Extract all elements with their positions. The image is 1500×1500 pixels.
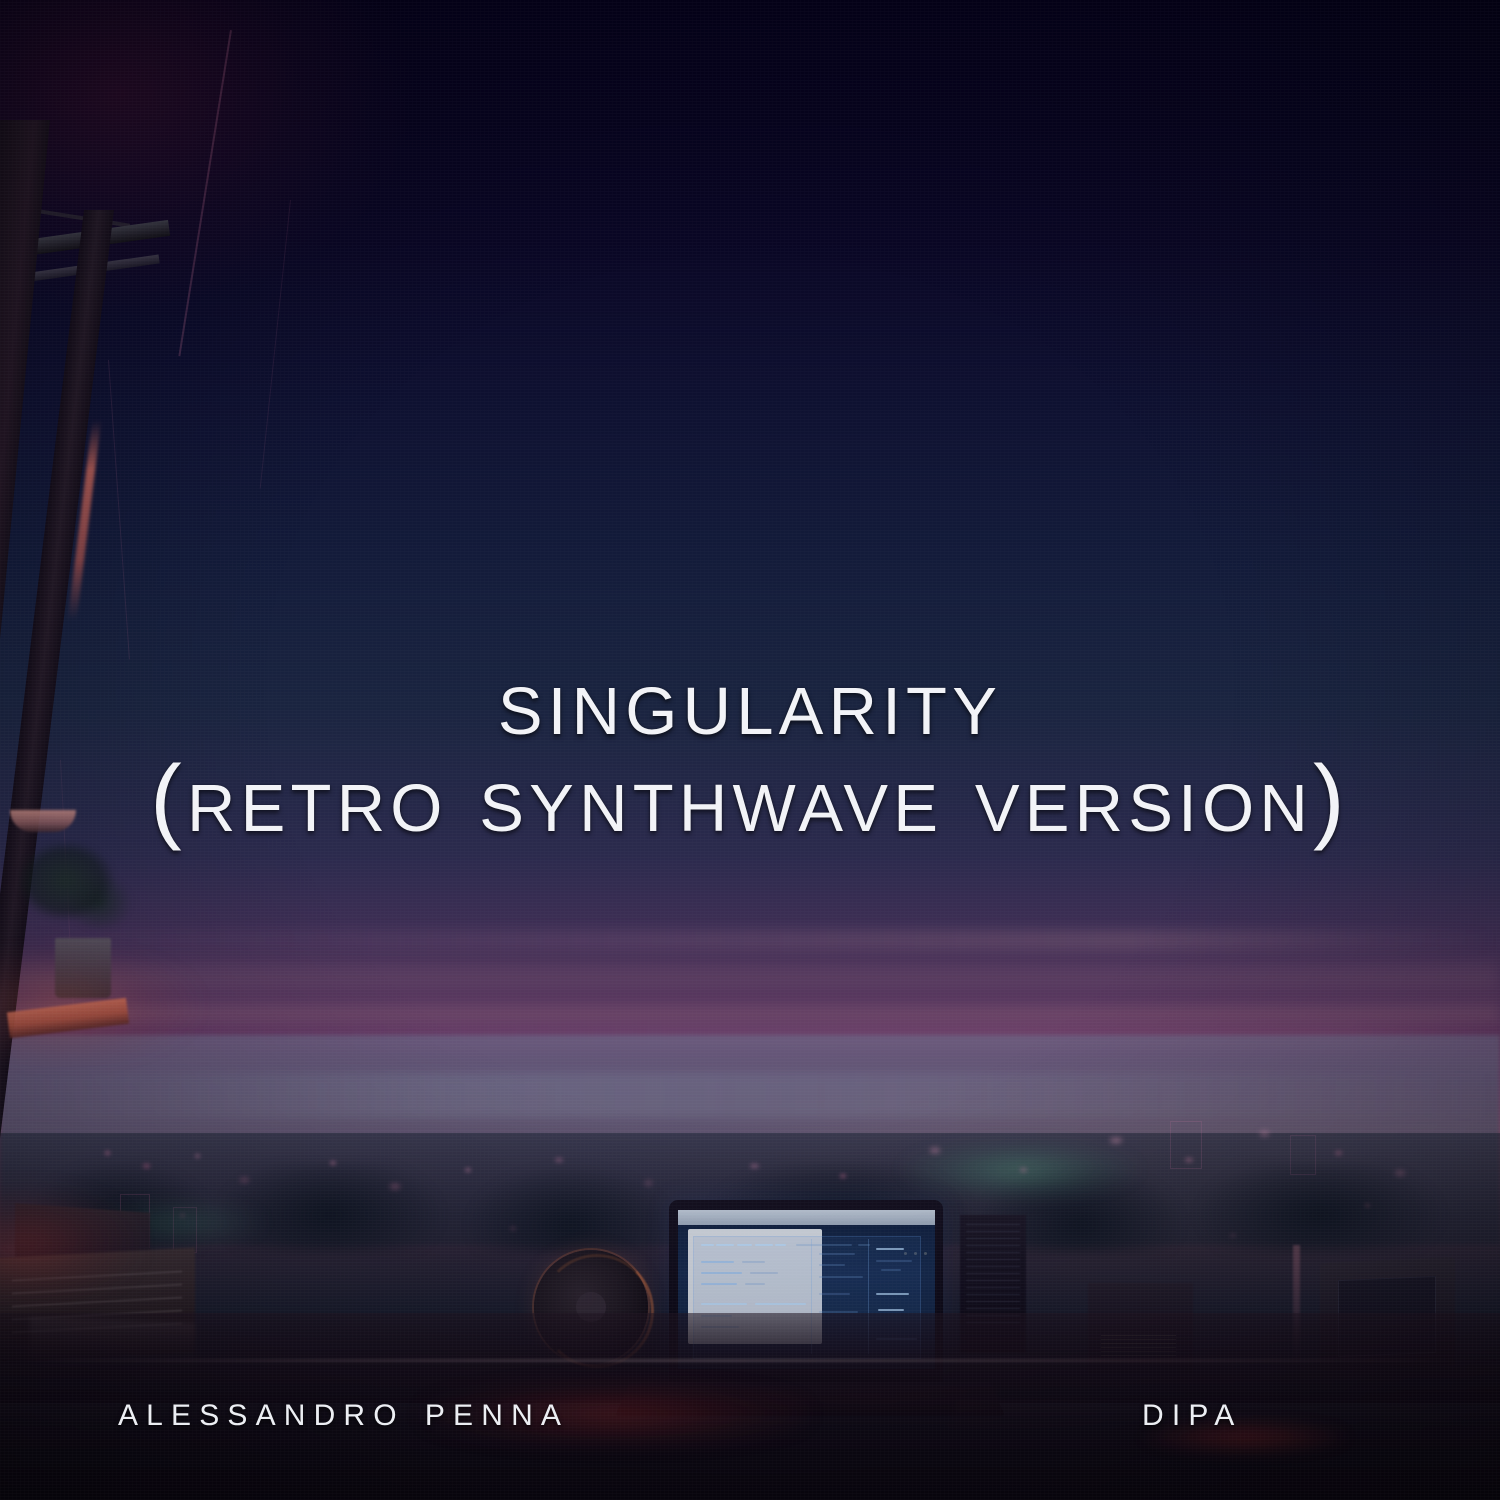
artist-credit: Alessandro penna (118, 1390, 569, 1433)
potted-plant-foliage (18, 833, 138, 953)
album-cover: Singularity (Retro Synthwave Version) Al… (0, 0, 1500, 1500)
browser-toolbar (678, 1210, 935, 1225)
page-text-line (701, 1272, 742, 1274)
page-sidebar-line (878, 1309, 904, 1311)
page-text-line (742, 1261, 765, 1263)
desk-edge-highlight (0, 1359, 1500, 1362)
page-text-line-bright (755, 1303, 806, 1305)
page-text-line-bright (701, 1303, 747, 1305)
page-chart-bar (819, 1276, 863, 1278)
page-chart-bar (819, 1293, 850, 1295)
page-heading-glyph (775, 1244, 785, 1246)
featured-artist-credit: Dipa (1142, 1390, 1242, 1433)
page-sidebar-line (881, 1269, 902, 1271)
page-text-line (750, 1272, 778, 1274)
page-sidebar-line (876, 1293, 909, 1295)
bowl-object (10, 810, 76, 832)
page-chart-bar (819, 1253, 855, 1255)
page-heading-glyph (716, 1244, 734, 1246)
left-red-glow (0, 1185, 140, 1305)
page-heading-glyph (701, 1244, 714, 1246)
page-sidebar-line (876, 1260, 912, 1262)
browser-close-icon[interactable] (924, 1252, 927, 1255)
page-text-line (701, 1261, 734, 1263)
page-heading-glyph (737, 1244, 752, 1246)
page-heading-glyph (755, 1244, 773, 1246)
